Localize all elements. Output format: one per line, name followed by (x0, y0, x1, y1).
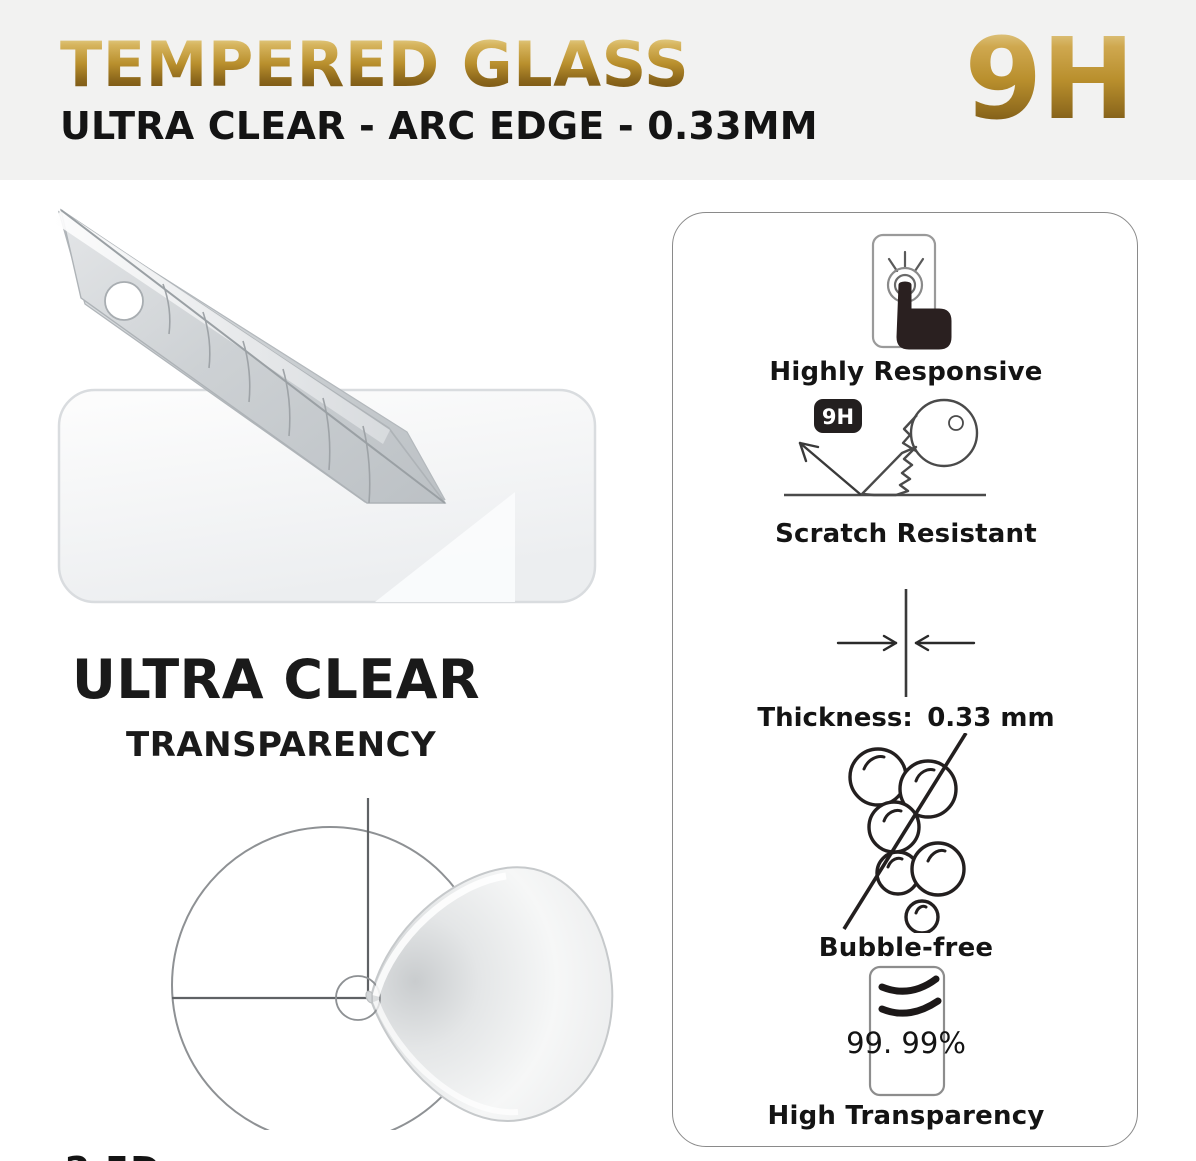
arc-edge-cross-section-icon (336, 867, 612, 1121)
left-column: ULTRA CLEAR TRANSPARENCY (0, 180, 660, 1161)
page-title: TEMPERED GLASS (60, 34, 689, 96)
transparency-phone-icon: 99. 99% (816, 961, 996, 1101)
deflection-arrow-icon (800, 443, 860, 494)
features-panel: Highly Responsive 9H (672, 212, 1138, 1147)
feature-label-highly-responsive: Highly Responsive (673, 357, 1139, 387)
feature-label-scratch-resistant: Scratch Resistant (673, 519, 1139, 549)
product-infographic: TEMPERED GLASS ULTRA CLEAR - ARC EDGE - … (0, 0, 1196, 1161)
transparency-subheading: TRANSPARENCY (126, 725, 436, 765)
header-subtitle: ULTRA CLEAR - ARC EDGE - 0.33MM (60, 104, 818, 148)
thickness-arrows-icon (796, 583, 1016, 703)
ultra-clear-heading: ULTRA CLEAR (72, 648, 480, 711)
badge-9h-small: 9H (814, 399, 862, 433)
bubbles-crossed-icon (806, 733, 1006, 933)
svg-text:9H: 9H (822, 405, 854, 429)
arc-edge-svg (20, 780, 640, 1130)
feature-highly-responsive: Highly Responsive (673, 227, 1139, 387)
arc-edge-label-value: 2.5D (65, 1150, 161, 1161)
thickness-label-prefix: Thickness: (757, 703, 912, 733)
hardness-badge-9h: 9H (964, 24, 1134, 136)
feature-label-thickness: Thickness: 0.33 mm (673, 703, 1139, 733)
header-band: TEMPERED GLASS ULTRA CLEAR - ARC EDGE - … (0, 0, 1196, 180)
feature-label-high-transparency: High Transparency (673, 1101, 1139, 1131)
feature-label-bubble-free: Bubble-free (673, 933, 1139, 963)
feature-high-transparency: 99. 99% High Transparency (673, 961, 1139, 1131)
arc-edge-diagram (20, 780, 640, 1130)
feature-thickness: Thickness: 0.33 mm (673, 583, 1139, 733)
key-icon (862, 400, 977, 495)
key-scratch-icon: 9H (776, 395, 1036, 519)
feature-scratch-resistant: 9H Scratch Resistant (673, 395, 1139, 549)
transparency-percent-value: 99. 99% (846, 1026, 966, 1060)
touch-phone-icon (831, 227, 981, 357)
blade-over-glass-illustration (45, 200, 645, 640)
thickness-label-value: 0.33 mm (917, 703, 1054, 733)
blade-hole-icon (105, 282, 143, 320)
blade-glass-svg (45, 200, 645, 640)
feature-bubble-free: Bubble-free (673, 733, 1139, 963)
